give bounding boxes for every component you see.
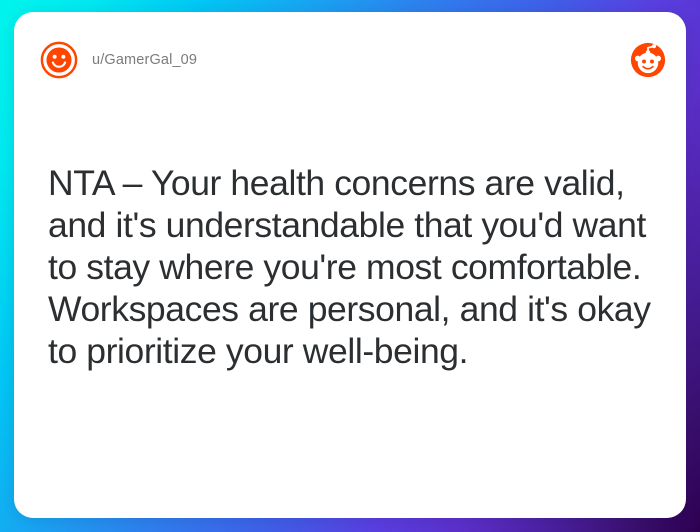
card-header: u/GamerGal_09 <box>14 12 686 108</box>
comment-text: NTA – Your health concerns are valid, an… <box>48 162 666 372</box>
username-label: u/GamerGal_09 <box>92 52 197 68</box>
reddit-snoo-icon[interactable] <box>630 42 666 78</box>
smiley-face-avatar-icon <box>40 41 78 79</box>
reddit-comment-card: u/GamerGal_09 NTA – Your health concerns… <box>14 12 686 518</box>
